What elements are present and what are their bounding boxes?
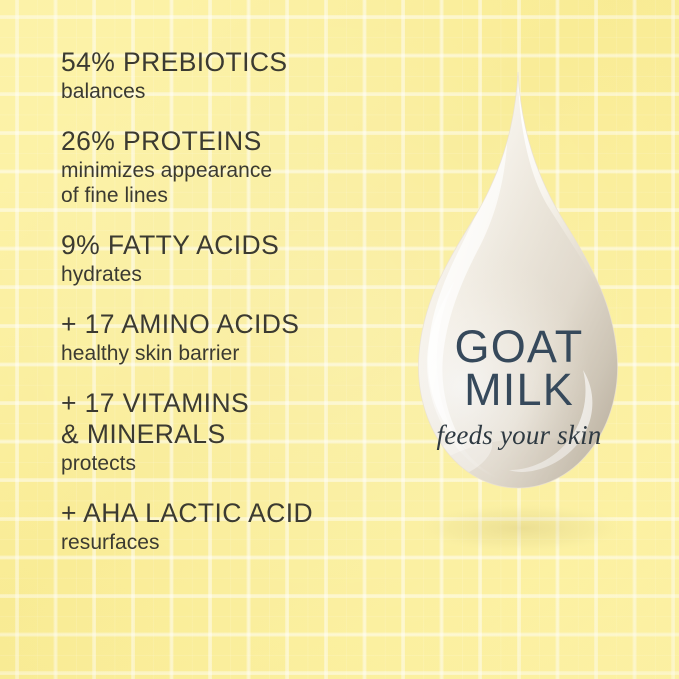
ingredient-item-proteins: 26% PROTEINS minimizes appearance of fin… [61, 126, 381, 208]
ingredient-item-prebiotics: 54% PREBIOTICS balances [61, 47, 381, 104]
ingredient-item-amino-acids: + 17 AMINO ACIDS healthy skin barrier [61, 309, 381, 366]
ingredient-headline: + AHA LACTIC ACID [61, 498, 381, 529]
ingredient-benefit: hydrates [61, 262, 381, 287]
ingredient-benefit: healthy skin barrier [61, 341, 381, 366]
ingredient-benefit: balances [61, 79, 381, 104]
milk-droplet-icon [369, 58, 669, 558]
droplet-shading-group [369, 72, 649, 526]
ingredient-headline: 26% PROTEINS [61, 126, 381, 157]
ingredient-item-fatty-acids: 9% FATTY ACIDS hydrates [61, 230, 381, 287]
ingredient-item-vitamins-minerals: + 17 VITAMINS & MINERALS protects [61, 388, 381, 476]
ingredient-headline: + 17 VITAMINS & MINERALS [61, 388, 381, 450]
milk-droplet-graphic [369, 58, 669, 558]
ingredient-benefit: resurfaces [61, 530, 381, 555]
ingredient-headline: + 17 AMINO ACIDS [61, 309, 381, 340]
ingredient-benefit: minimizes appearance of fine lines [61, 158, 381, 208]
ingredient-item-aha-lactic-acid: + AHA LACTIC ACID resurfaces [61, 498, 381, 555]
ingredient-headline: 54% PREBIOTICS [61, 47, 381, 78]
ingredient-headline: 9% FATTY ACIDS [61, 230, 381, 261]
ingredient-list: 54% PREBIOTICS balances 26% PROTEINS min… [61, 47, 381, 555]
droplet-shadow [417, 504, 625, 552]
infographic-canvas: 54% PREBIOTICS balances 26% PROTEINS min… [0, 0, 679, 679]
ingredient-benefit: protects [61, 451, 381, 476]
